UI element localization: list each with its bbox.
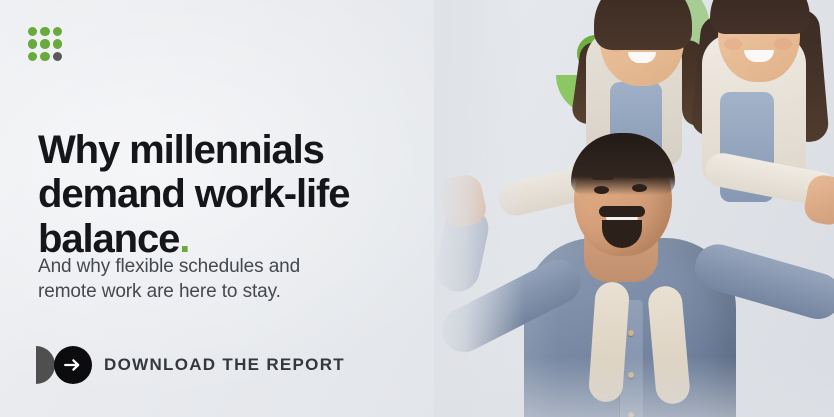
logo-dot-4 bbox=[28, 39, 37, 48]
girl-right-blush-left bbox=[724, 38, 742, 50]
father-shirt-button-3 bbox=[628, 412, 634, 417]
father-shirt-button-1 bbox=[628, 330, 634, 336]
logo-dot-2 bbox=[40, 27, 49, 36]
headline-line-2: demand work-life bbox=[38, 172, 349, 216]
marketing-banner: Why millennials demand work-life balance… bbox=[0, 0, 834, 417]
arrow-right-icon bbox=[54, 346, 92, 384]
cta-mark bbox=[36, 346, 96, 384]
logo-dot-1 bbox=[28, 27, 37, 36]
half-circle-d-mark bbox=[36, 346, 55, 384]
logo-dot-8 bbox=[40, 52, 49, 61]
father-shirt-button-2 bbox=[628, 372, 634, 378]
girl-right-smile bbox=[744, 50, 774, 62]
subtitle-line-2: remote work are here to stay. bbox=[38, 281, 281, 302]
logo-dot-5 bbox=[40, 39, 49, 48]
page-title: Why millennials demand work-life balance… bbox=[38, 128, 438, 261]
headline-line-1: Why millennials bbox=[38, 128, 324, 172]
dot-grid-logo[interactable] bbox=[28, 27, 62, 61]
girl-right-blush-right bbox=[774, 38, 792, 50]
girl-left-smile bbox=[628, 52, 656, 63]
father-mustache bbox=[599, 206, 645, 217]
download-the-report-button[interactable]: DOWNLOAD THE REPORT bbox=[36, 345, 345, 385]
hero-photo bbox=[434, 0, 834, 417]
logo-dot-7 bbox=[28, 52, 37, 61]
girl-right-hair-top bbox=[710, 0, 810, 34]
cta-label: DOWNLOAD THE REPORT bbox=[104, 355, 345, 375]
subtitle-line-1: And why flexible schedules and bbox=[38, 256, 300, 277]
subtitle: And why flexible schedules and remote wo… bbox=[38, 254, 398, 305]
girl-left-hair bbox=[594, 0, 692, 50]
logo-dot-9 bbox=[53, 52, 62, 61]
logo-dot-6 bbox=[53, 39, 62, 48]
logo-dot-3 bbox=[53, 27, 62, 36]
